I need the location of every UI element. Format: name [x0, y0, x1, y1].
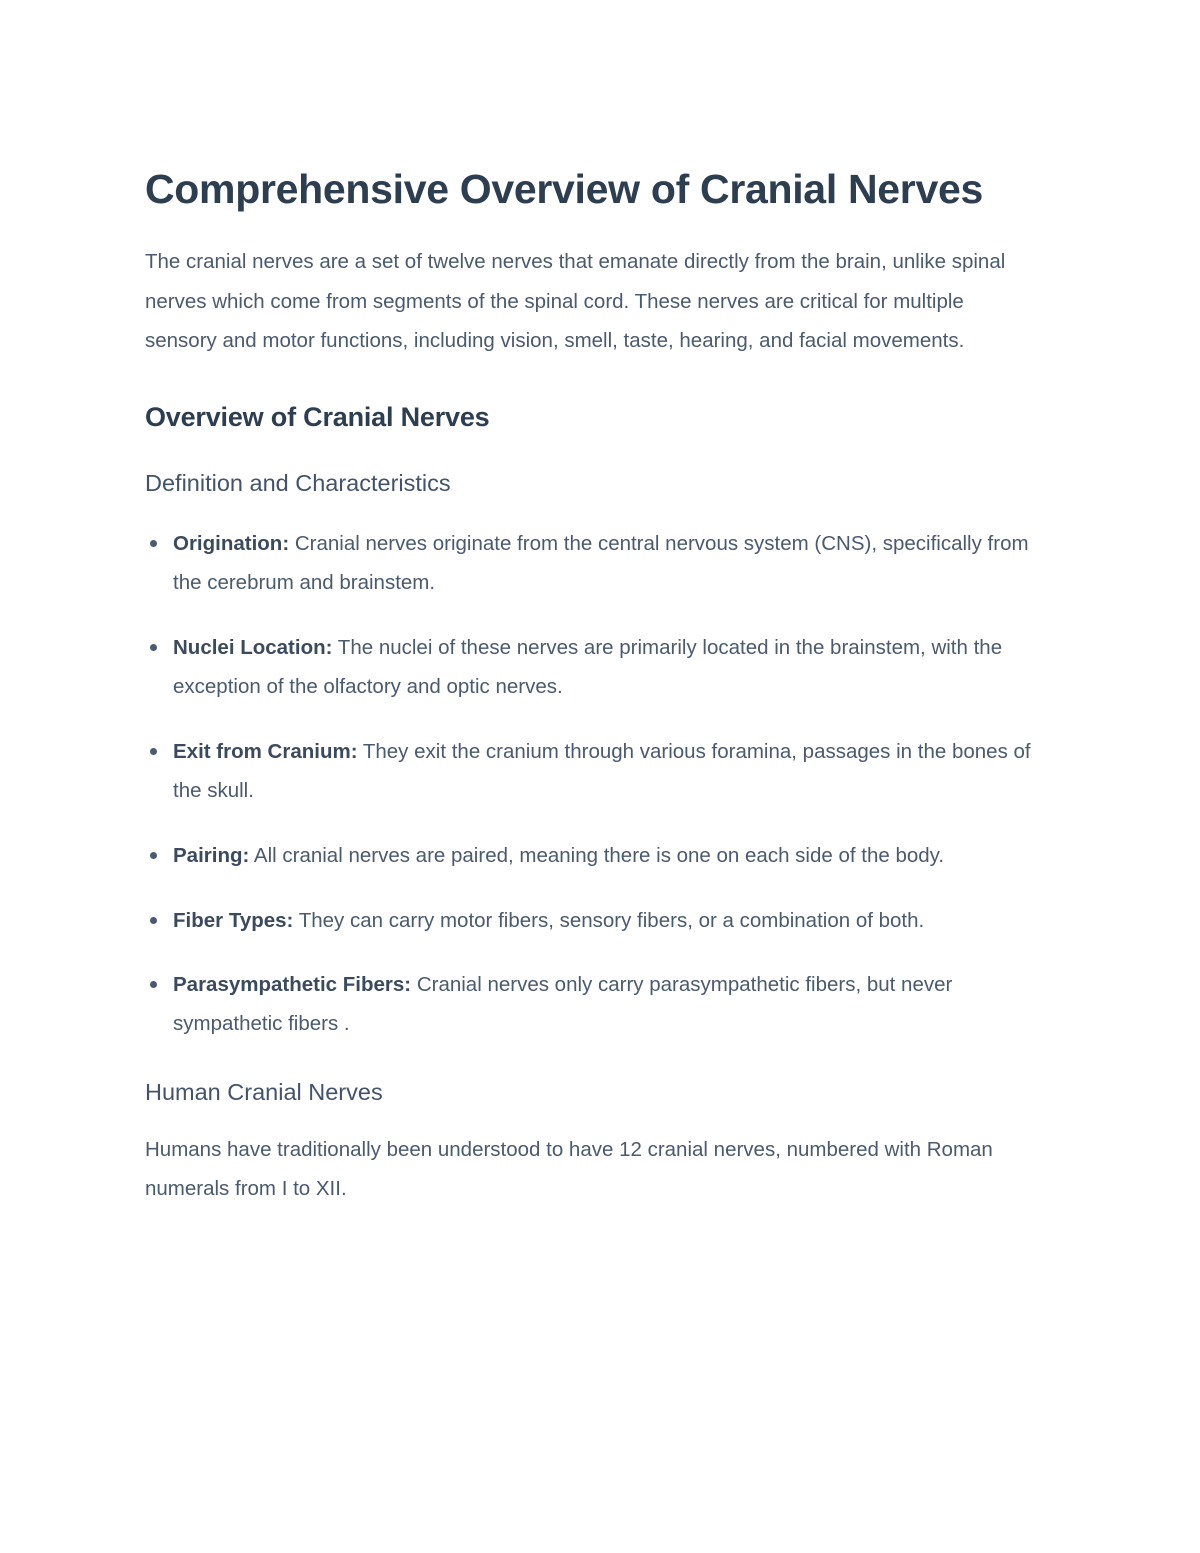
document-page: Comprehensive Overview of Cranial Nerves… [0, 0, 1200, 1553]
list-item: Exit from Cranium: They exit the cranium… [145, 733, 1045, 811]
section-heading-overview: Overview of Cranial Nerves [145, 400, 1045, 435]
list-item-label: Origination: [173, 532, 289, 555]
list-item: Origination: Cranial nerves originate fr… [145, 525, 1045, 603]
list-item: Parasympathetic Fibers: Cranial nerves o… [145, 966, 1045, 1044]
list-item-text: They can carry motor fibers, sensory fib… [293, 909, 924, 932]
list-item: Fiber Types: They can carry motor fibers… [145, 902, 1045, 941]
list-item: Pairing: All cranial nerves are paired, … [145, 837, 1045, 876]
list-item-text: All cranial nerves are paired, meaning t… [249, 844, 944, 867]
lead-paragraph: The cranial nerves are a set of twelve n… [145, 242, 1035, 360]
characteristics-list: Origination: Cranial nerves originate fr… [145, 525, 1045, 1044]
list-item-label: Parasympathetic Fibers: [173, 973, 411, 996]
list-item-label: Nuclei Location: [173, 636, 332, 659]
page-title: Comprehensive Overview of Cranial Nerves [145, 160, 1025, 218]
list-item-label: Exit from Cranium: [173, 740, 358, 763]
subsection-heading-human-cranial-nerves: Human Cranial Nerves [145, 1077, 1045, 1108]
human-cranial-nerves-paragraph: Humans have traditionally been understoo… [145, 1130, 1025, 1209]
list-item-label: Fiber Types: [173, 909, 293, 932]
list-item: Nuclei Location: The nuclei of these ner… [145, 629, 1045, 707]
subsection-heading-definition: Definition and Characteristics [145, 468, 1045, 499]
list-item-text: Cranial nerves originate from the centra… [173, 532, 1029, 594]
list-item-label: Pairing: [173, 844, 249, 867]
